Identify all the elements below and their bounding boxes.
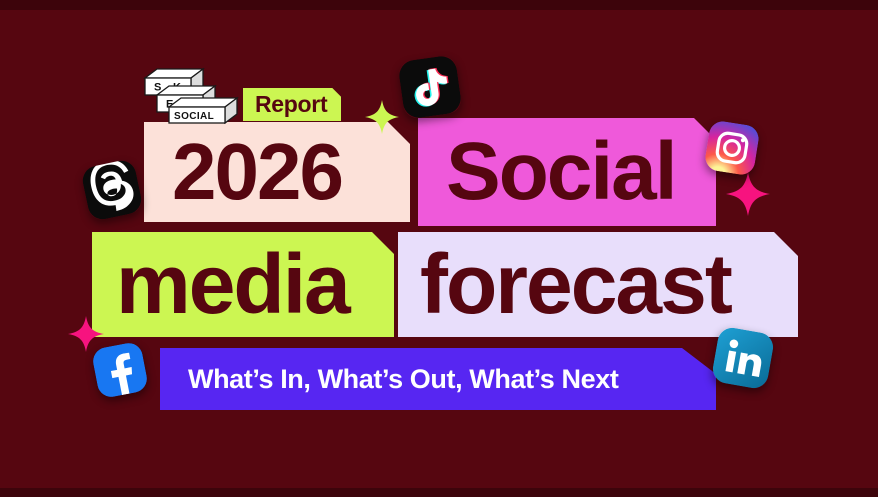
- headline-block-media: media: [92, 232, 394, 337]
- sparkle-pink-left-icon: [68, 316, 104, 352]
- poster-canvas: S K E D SOCIAL Report 2026 Social media: [0, 0, 878, 497]
- top-edge-band: [0, 0, 878, 10]
- tiktok-icon[interactable]: [397, 54, 463, 120]
- headline-block-forecast: forecast: [398, 232, 798, 337]
- bottom-edge-band: [0, 488, 878, 497]
- sparkle-pink-right-icon: [726, 172, 770, 216]
- sked-social-logo[interactable]: S K E D SOCIAL: [143, 62, 239, 124]
- facebook-icon[interactable]: [91, 341, 150, 400]
- instagram-icon[interactable]: [703, 119, 760, 176]
- sparkle-green-top-icon: [365, 100, 399, 134]
- headline-block-social: Social: [418, 118, 716, 226]
- subtitle-bar: What’s In, What’s Out, What’s Next: [160, 348, 716, 410]
- headline-block-2026: 2026: [144, 122, 410, 222]
- report-badge: Report: [243, 88, 341, 121]
- linkedin-icon[interactable]: [711, 326, 776, 391]
- svg-text:S: S: [154, 82, 161, 94]
- threads-icon[interactable]: [80, 158, 144, 222]
- svg-text:SOCIAL: SOCIAL: [174, 111, 214, 122]
